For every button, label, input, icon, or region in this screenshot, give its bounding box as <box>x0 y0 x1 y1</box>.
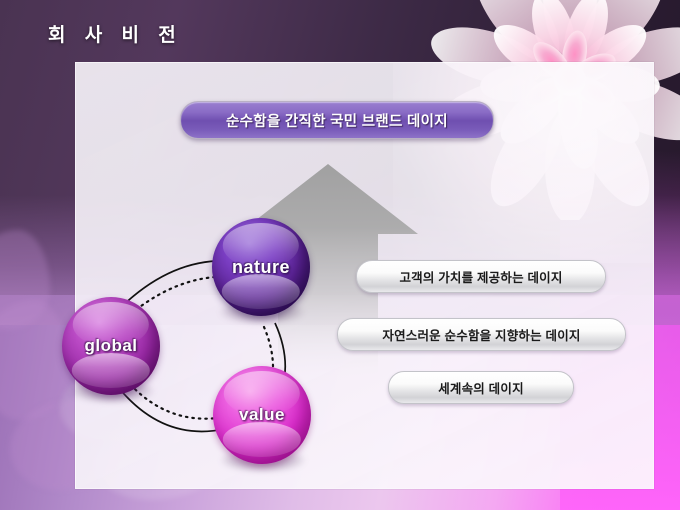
slide-canvas: 회 사 비 전 순수함을 간직한 국민 브랜드 데이지 <box>0 0 680 510</box>
sphere-nature[interactable]: nature <box>212 218 310 316</box>
vision-banner-text: 순수함을 간직한 국민 브랜드 데이지 <box>226 110 448 131</box>
callout-customer-value[interactable]: 고객의 가치를 제공하는 데이지 <box>356 260 606 293</box>
sphere-value[interactable]: value <box>213 366 311 464</box>
sphere-label-value: value <box>239 405 285 425</box>
panel-flower-overlay <box>393 63 653 263</box>
callout-text: 자연스러운 순수함을 지향하는 데이지 <box>382 325 580 344</box>
sphere-label-nature: nature <box>232 257 290 278</box>
callout-text: 고객의 가치를 제공하는 데이지 <box>399 267 562 286</box>
vision-banner[interactable]: 순수함을 간직한 국민 브랜드 데이지 <box>180 101 494 139</box>
sphere-reflection <box>72 353 150 388</box>
page-title: 회 사 비 전 <box>48 20 183 47</box>
sphere-reflection <box>223 422 301 457</box>
callout-text: 세계속의 데이지 <box>438 378 524 397</box>
sphere-label-global: global <box>84 336 137 356</box>
sphere-reflection <box>222 274 300 309</box>
callout-global-daisy[interactable]: 세계속의 데이지 <box>388 371 574 404</box>
sphere-global[interactable]: global <box>62 297 160 395</box>
callout-natural-purity[interactable]: 자연스러운 순수함을 지향하는 데이지 <box>337 318 626 351</box>
